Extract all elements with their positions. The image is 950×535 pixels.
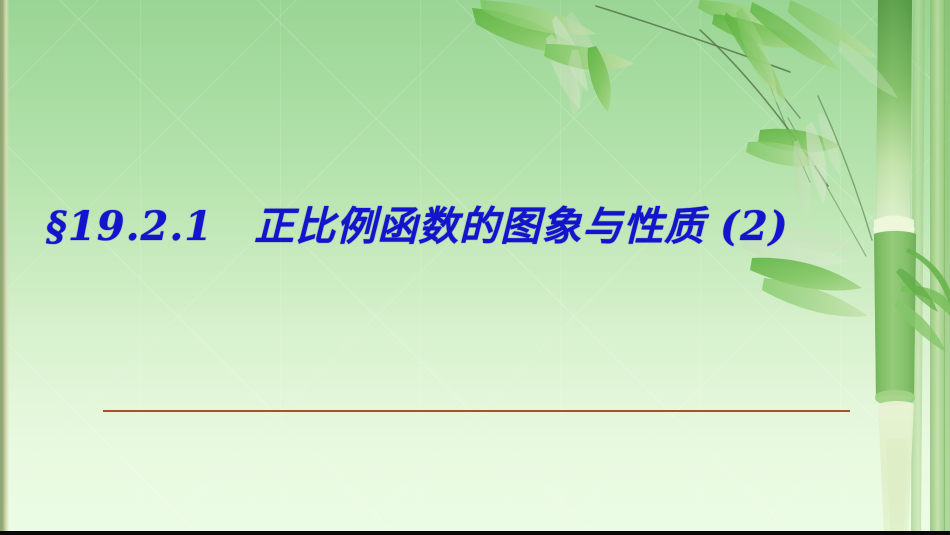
- bamboo-leaf-cluster-mid-left: [544, 44, 634, 118]
- slide-canvas: §19.2.1 正比例函数的图象与性质 (2): [0, 0, 950, 535]
- page-title: §19.2.1 正比例函数的图象与性质 (2): [46, 196, 846, 258]
- left-edge-strip: [0, 0, 9, 535]
- bamboo-main-stalk-reflection: [878, 401, 914, 535]
- divider-rule: [103, 410, 850, 412]
- bamboo-illustration: [0, 0, 950, 535]
- bottom-border: [0, 531, 950, 535]
- bamboo-main-stalk-upper: [873, 0, 915, 236]
- bamboo-edge-stalk: [944, 0, 950, 535]
